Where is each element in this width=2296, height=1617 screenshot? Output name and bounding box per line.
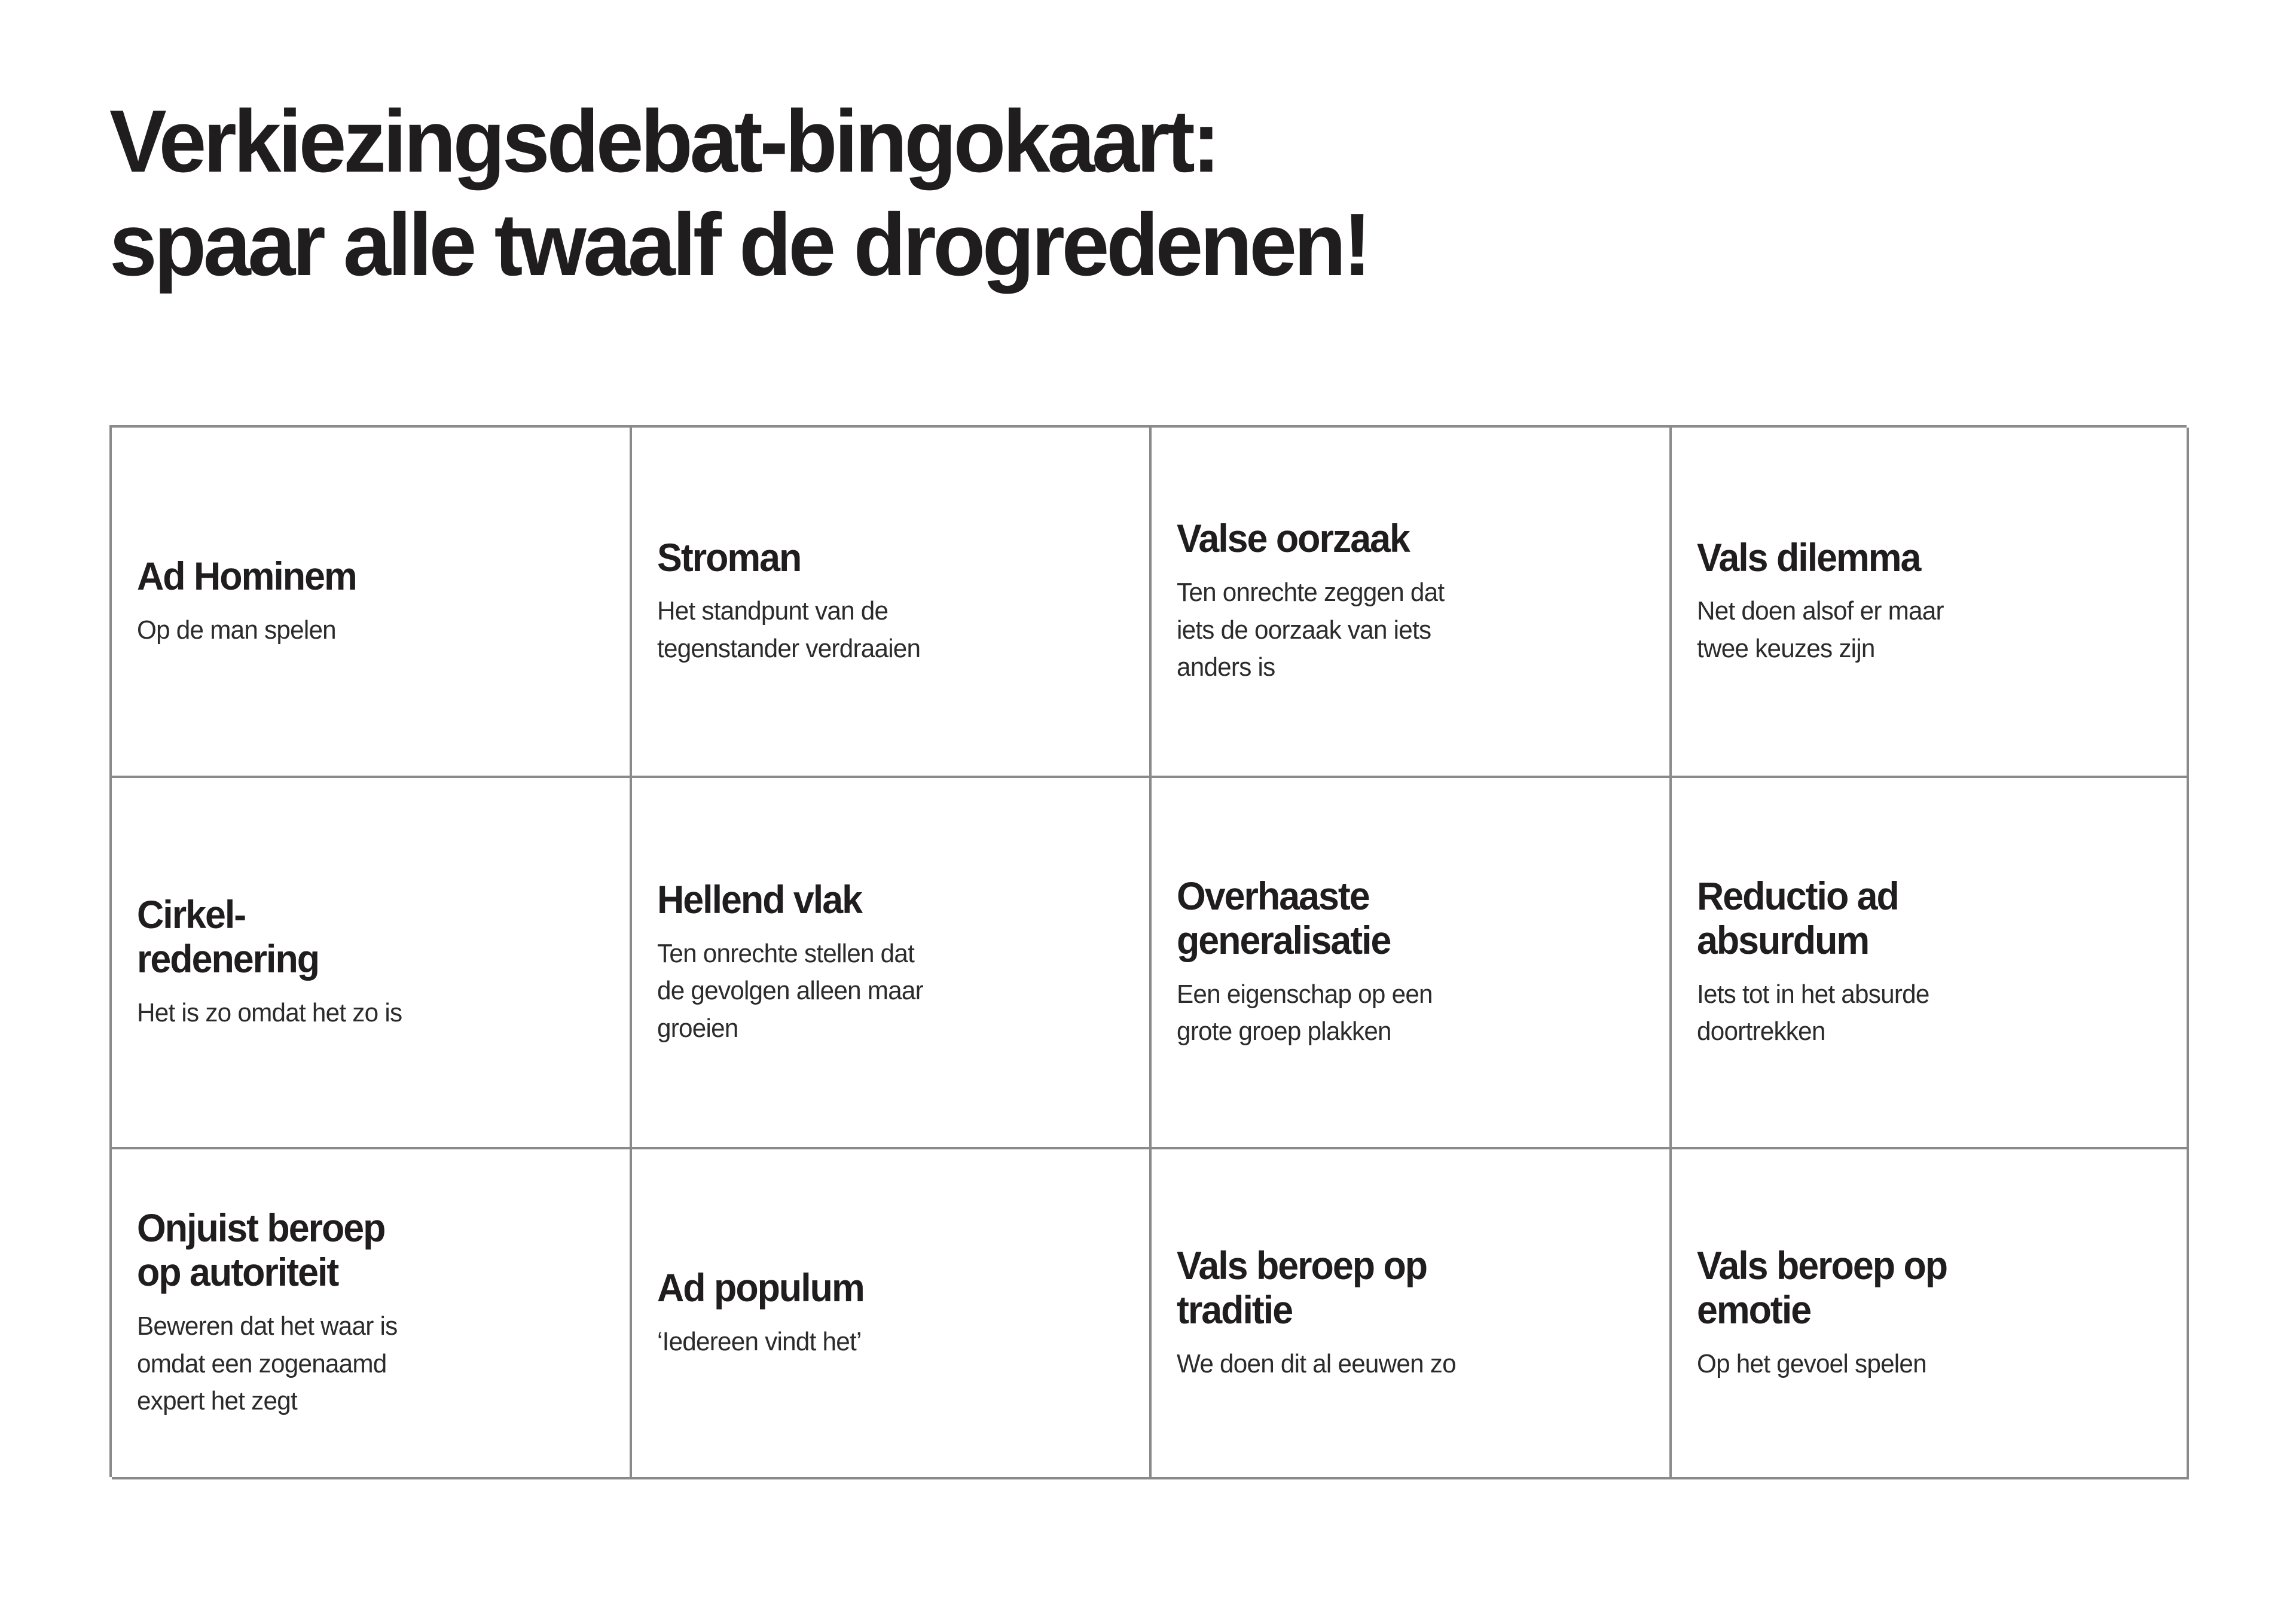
page-title: Verkiezingsdebat-bingokaart: spaar alle …: [109, 90, 2202, 297]
bingo-cell-title: Onjuist beroep op autoriteit: [137, 1206, 579, 1295]
bingo-cell[interactable]: Hellend vlak Ten onrechte stellen dat de…: [632, 778, 1152, 1149]
bingo-cell-description: ‘Iedereen vindt het’: [657, 1323, 1103, 1360]
bingo-cell-title: Hellend vlak: [657, 878, 1098, 922]
bingo-cell[interactable]: Valse oorzaak Ten onrechte zeggen dat ie…: [1152, 428, 1672, 778]
bingo-cell-title: Reductio ad absurdum: [1697, 874, 2136, 963]
bingo-cell-description: Op de man spelen: [137, 612, 584, 649]
bingo-cell-title: Valse oorzaak: [1177, 517, 1619, 561]
bingo-cell[interactable]: Reductio ad absurdum Iets tot in het abs…: [1672, 778, 2189, 1149]
bingo-cell-description: Ten onrechte stellen dat de gevolgen all…: [657, 935, 1103, 1047]
bingo-cell[interactable]: Vals beroep op traditie We doen dit al e…: [1152, 1149, 1672, 1479]
bingo-cell[interactable]: Overhaaste generalisatie Een eigenschap …: [1152, 778, 1672, 1149]
bingo-cell-title: Ad populum: [657, 1266, 1098, 1310]
bingo-cell[interactable]: Onjuist beroep op autoriteit Beweren dat…: [112, 1149, 632, 1479]
bingo-cell-description: Het is zo omdat het zo is: [137, 994, 584, 1032]
bingo-card-page: Verkiezingsdebat-bingokaart: spaar alle …: [0, 0, 2296, 1617]
bingo-cell-description: Op het gevoel spelen: [1697, 1346, 2141, 1383]
bingo-cell-description: Ten onrechte zeggen dat iets de oorzaak …: [1177, 574, 1623, 686]
bingo-cell-description: Beweren dat het waar is omdat een zogena…: [137, 1308, 584, 1420]
bingo-grid: Ad Hominem Op de man spelen Stroman Het …: [109, 425, 2187, 1477]
bingo-cell-title: Vals beroep op emotie: [1697, 1244, 2136, 1332]
bingo-cell-title: Cirkel- redenering: [137, 893, 579, 981]
bingo-cell-title: Vals beroep op traditie: [1177, 1244, 1619, 1332]
bingo-cell[interactable]: Stroman Het standpunt van de tegenstande…: [632, 428, 1152, 778]
bingo-cell-title: Stroman: [657, 536, 1098, 580]
bingo-cell[interactable]: Vals dilemma Net doen alsof er maar twee…: [1672, 428, 2189, 778]
bingo-cell-description: Het standpunt van de tegenstander verdra…: [657, 593, 1103, 667]
bingo-cell-description: We doen dit al eeuwen zo: [1177, 1346, 1623, 1383]
bingo-cell[interactable]: Cirkel- redenering Het is zo omdat het z…: [112, 778, 632, 1149]
bingo-cell-title: Ad Hominem: [137, 554, 579, 599]
bingo-cell[interactable]: Ad populum ‘Iedereen vindt het’: [632, 1149, 1152, 1479]
bingo-cell[interactable]: Ad Hominem Op de man spelen: [112, 428, 632, 778]
bingo-cell-title: Vals dilemma: [1697, 536, 2136, 580]
bingo-cell-description: Een eigenschap op een grote groep plakke…: [1177, 976, 1623, 1051]
bingo-cell-title: Overhaaste generalisatie: [1177, 874, 1619, 963]
bingo-cell-description: Iets tot in het absurde doortrekken: [1697, 976, 2141, 1051]
page-title-line-1: Verkiezingsdebat-bingokaart:: [109, 90, 2139, 193]
bingo-cell[interactable]: Vals beroep op emotie Op het gevoel spel…: [1672, 1149, 2189, 1479]
page-title-line-2: spaar alle twaalf de drogredenen!: [109, 193, 2139, 297]
bingo-cell-description: Net doen alsof er maar twee keuzes zijn: [1697, 593, 2141, 667]
